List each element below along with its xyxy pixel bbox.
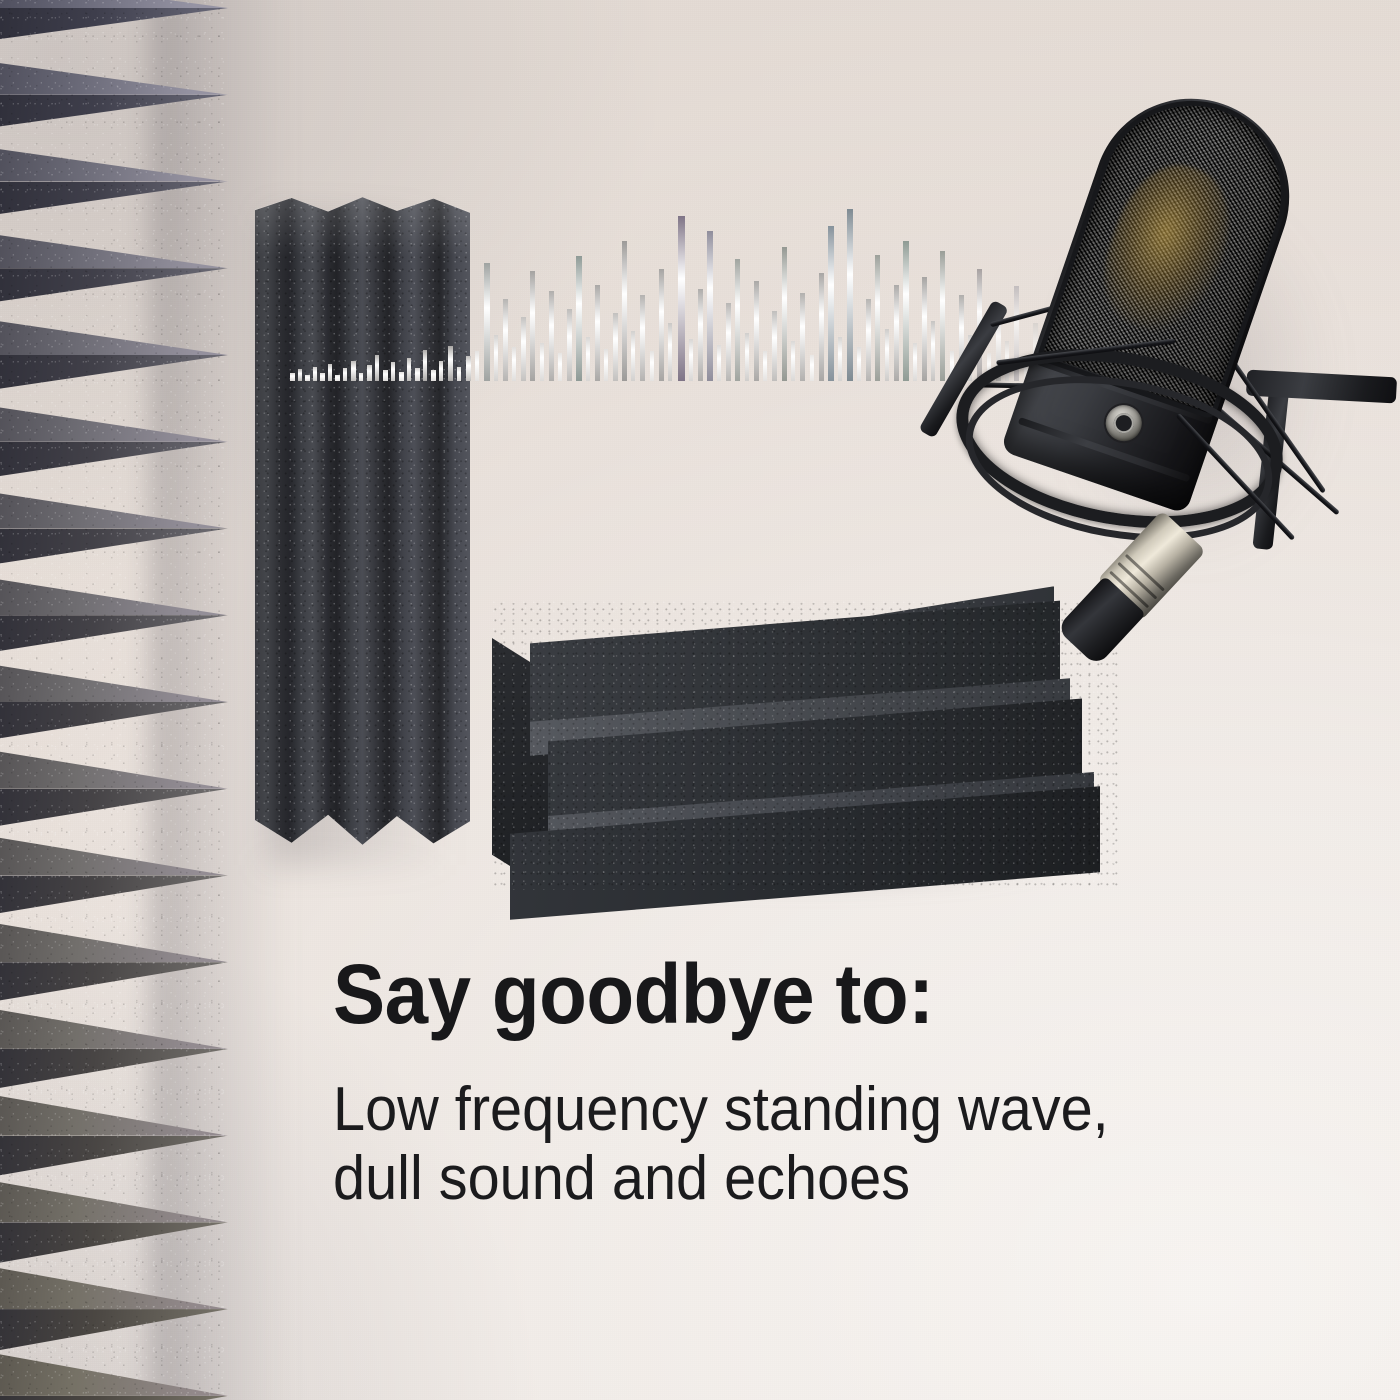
foam-wedge-row (0, 572, 228, 659)
foam-wedge-row (0, 400, 228, 484)
body-copy: Low frequency standing wave, dull sound … (333, 1075, 1109, 1214)
waveform-bar (457, 367, 461, 381)
foam-wedge-texture (0, 572, 228, 659)
waveform-bar (745, 333, 749, 381)
waveform-bar (782, 247, 787, 381)
waveform-bar (640, 295, 645, 381)
waveform-bar (399, 372, 404, 381)
waveform-bar (466, 356, 471, 381)
foam-wedge-texture (0, 142, 228, 221)
waveform-bar (847, 209, 853, 381)
waveform-bar (320, 373, 325, 381)
waveform-bar (391, 362, 395, 381)
foam-wedge-texture (0, 915, 228, 1009)
waveform-bar (763, 351, 767, 381)
waveform-bar (819, 273, 824, 381)
waveform-bar (622, 241, 627, 381)
foam-wedge-row (0, 829, 228, 921)
foam-wedge-texture (0, 657, 228, 746)
waveform-bar (359, 373, 363, 381)
waveform-bar (375, 355, 379, 381)
foam-wedge-texture (0, 56, 228, 134)
waveform-bar (613, 313, 618, 381)
waveform-bar (530, 271, 535, 381)
foam-wedge-texture (0, 1087, 228, 1184)
foam-wedge-texture (0, 314, 228, 397)
waveform-bar (298, 369, 302, 381)
waveform-bar (913, 343, 917, 381)
waveform-bar (754, 281, 759, 381)
foam-wedge-texture (0, 400, 228, 484)
waveform-bar (431, 370, 436, 381)
waveform-bar (549, 291, 554, 381)
waveform-bar (650, 351, 654, 381)
waveform-bar (717, 345, 721, 381)
waveform-bar (838, 337, 842, 381)
waveform-bar (828, 226, 834, 381)
foam-wedge-row (0, 915, 228, 1009)
foam-wedge-row (0, 314, 228, 397)
waveform-bar (586, 337, 590, 381)
waveform-bar (595, 285, 600, 381)
waveform-bar (631, 331, 635, 381)
foam-wedge-row (0, 1001, 228, 1097)
waveform-bar (567, 309, 572, 381)
waveform-bar (885, 329, 889, 381)
foam-wedge-row (0, 0, 228, 46)
foam-wedge-texture (0, 0, 228, 46)
waveform-bar (313, 367, 317, 381)
foam-wedge-row (0, 1345, 228, 1400)
waveform-bar (558, 353, 562, 381)
waveform-bar (521, 317, 526, 381)
waveform-bar (448, 346, 453, 381)
waveform-bar (668, 323, 672, 381)
waveform-bar (290, 373, 295, 381)
waveform-bar (367, 365, 372, 381)
foam-wedge-row (0, 1173, 228, 1272)
waveform-bar (689, 339, 693, 381)
product-marketing-image: Say goodbye to: Low frequency standing w… (0, 0, 1400, 1400)
waveform-bar (894, 285, 899, 381)
foam-wedge-row (0, 142, 228, 221)
waveform-bar (800, 293, 805, 381)
waveform-bar (698, 289, 703, 381)
waveform-bar (875, 255, 880, 381)
foam-wedge-texture (0, 743, 228, 834)
waveform-bar (484, 263, 490, 381)
waveform-bar (343, 368, 347, 381)
foam-wedge-row (0, 1087, 228, 1184)
waveform-bar (903, 241, 909, 381)
waveform-bar (678, 216, 685, 381)
waveform-bar (494, 335, 498, 381)
waveform-bar (335, 375, 340, 381)
waveform-bar (735, 259, 740, 381)
foam-wedge-row (0, 657, 228, 746)
waveform-bar (351, 361, 356, 381)
body-copy-line-2: dull sound and echoes (333, 1144, 1109, 1213)
waveform-bar (512, 347, 516, 381)
foam-wedge-row (0, 56, 228, 134)
acoustic-wedge-foam-panel (0, 0, 232, 1400)
foam-wedge-texture (0, 1001, 228, 1097)
foam-wedge-texture (0, 829, 228, 921)
waveform-bar (726, 303, 731, 381)
waveform-bar (439, 361, 443, 381)
foam-wedge-texture (0, 1173, 228, 1272)
waveform-bar (540, 343, 544, 381)
waveform-bar (866, 299, 871, 381)
waveform-bar (604, 349, 608, 381)
waveform-bar (475, 351, 479, 381)
waveform-bar (810, 355, 814, 381)
waveform-bar (857, 347, 861, 381)
waveform-bar (383, 370, 388, 381)
waveform-bar (707, 231, 713, 381)
body-copy-line-1: Low frequency standing wave, (333, 1075, 1109, 1144)
waveform-bar (305, 375, 310, 381)
foam-wedge-row (0, 228, 228, 309)
foam-wedge-texture (0, 486, 228, 572)
waveform-bar (576, 256, 582, 381)
waveform-bar (922, 277, 927, 381)
foam-wedge-row (0, 743, 228, 834)
waveform-bar (503, 299, 508, 381)
waveform-bar (407, 358, 411, 381)
waveform-bar (772, 311, 777, 381)
waveform-bar (328, 364, 332, 381)
waveform-bar (791, 341, 795, 381)
waveform-bar (423, 350, 427, 381)
foam-wedge-row (0, 486, 228, 572)
condenser-microphone (960, 60, 1400, 740)
foam-wedge-texture (0, 1345, 228, 1400)
page-title: Say goodbye to: (333, 952, 934, 1036)
foam-wedge-texture (0, 228, 228, 309)
waveform-bar (659, 269, 664, 381)
waveform-bar (415, 368, 420, 381)
